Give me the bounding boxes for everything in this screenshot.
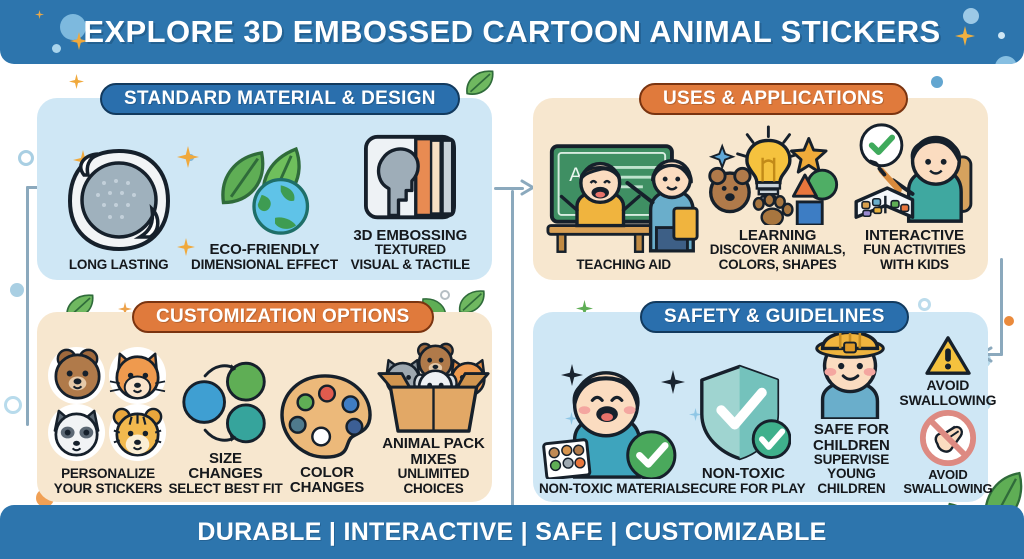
panel-items-uses: A	[533, 120, 988, 280]
footer-title: DURABLE | INTERACTIVE | SAFE | CUSTOMIZA…	[197, 518, 826, 547]
item-animal-pack: ANIMAL PACK MIXES UNLIMITED CHOICES	[376, 341, 491, 496]
item-teaching-aid: A	[543, 140, 704, 272]
panel-title-standard-material: STANDARD MATERIAL & DESIGN	[100, 83, 460, 115]
item-3d-embossing: 3D EMBOSSING TEXTURED VISUAL & TACTILE	[339, 133, 482, 272]
sparkle-icon	[69, 74, 84, 89]
item-sub-label: SECURE FOR PLAY	[681, 482, 805, 496]
leaf-icon	[462, 68, 496, 102]
decor-dot	[52, 44, 61, 53]
item-sub-label: FUN ACTIVITIES WITH KIDS	[863, 243, 965, 272]
header-banner: EXPLORE 3D EMBOSSED CARTOON ANIMAL STICK…	[0, 0, 1024, 64]
infographic-page: EXPLORE 3D EMBOSSED CARTOON ANIMAL STICK…	[0, 0, 1024, 559]
item-sub-label: DISCOVER ANIMALS, COLORS, SHAPES	[710, 243, 846, 272]
panel-items-custom: PERSONALIZE YOUR STICKERS SIZE CHANGES	[37, 334, 492, 502]
item-personalize: PERSONALIZE YOUR STICKERS	[43, 344, 173, 496]
connector-line-middle	[511, 190, 514, 520]
animal-faces-icon	[43, 344, 173, 464]
item-sub-label: LONG LASTING	[69, 258, 169, 272]
item-main-label: SIZE CHANGES	[188, 451, 262, 482]
decor-dot	[931, 76, 943, 88]
decor-dot	[10, 283, 24, 297]
panel-standard-material: LONG LASTING ECO-FRIENDLY	[37, 98, 492, 280]
panel-title-safety-guidelines: SAFETY & GUIDELINES	[640, 301, 909, 333]
panel-items-safety: NON-TOXIC MATERIAL NON-TOXIC SECURE FOR …	[533, 334, 988, 502]
happy-child-check-icon	[541, 361, 681, 479]
item-non-toxic-material: NON-TOXIC MATERIAL	[539, 361, 683, 496]
item-sub-label: TEXTURED VISUAL & TACTILE	[351, 243, 470, 272]
sparkle-icon	[955, 26, 975, 46]
item-main-label: ANIMAL PACK MIXES	[382, 436, 485, 467]
item-sub-label: DIMENSIONAL EFFECT	[191, 258, 338, 272]
sparkle-icon	[35, 10, 44, 19]
item-main-label: COLOR CHANGES	[290, 465, 364, 496]
panel-title-customization-options: CUSTOMIZATION OPTIONS	[132, 301, 434, 333]
size-circles-icon	[178, 358, 273, 448]
warning-triangle-icon	[924, 335, 972, 377]
shield-check-icon	[696, 363, 791, 463]
item-safe-for-children: SAFE FOR CHILDREN SUPERVISE YOUNG CHILDR…	[803, 319, 899, 496]
no-swallow-icon	[918, 409, 978, 467]
item-size-changes: SIZE CHANGES SELECT BEST FIT	[173, 358, 278, 496]
connector-line-right	[1000, 258, 1003, 356]
item-main-label: 3D EMBOSSING	[353, 228, 467, 244]
sticker-icon	[64, 145, 174, 255]
decor-dot	[440, 290, 450, 300]
decor-dot	[998, 32, 1005, 39]
item-sub-label: PERSONALIZE YOUR STICKERS	[54, 467, 162, 496]
item-long-lasting: LONG LASTING	[47, 145, 190, 272]
item-avoid-swallowing: AVOID SWALLOWING AVOID SWALLOWING	[899, 333, 996, 496]
child-sticker-book-icon	[852, 120, 977, 225]
hardhat-child-icon	[803, 319, 899, 419]
item-color-changes: COLOR CHANGES	[278, 372, 376, 496]
panel-customization-options: PERSONALIZE YOUR STICKERS SIZE CHANGES	[37, 312, 492, 502]
panel-uses-applications: A	[533, 98, 988, 280]
item-main-label: LEARNING	[739, 228, 817, 244]
decor-dot	[1004, 316, 1014, 326]
panel-safety-guidelines: NON-TOXIC MATERIAL NON-TOXIC SECURE FOR …	[533, 312, 988, 502]
item-learning: LEARNING DISCOVER ANIMALS, COLORS, SHAPE…	[704, 125, 851, 272]
decor-dot	[18, 150, 34, 166]
decor-dot	[4, 396, 22, 414]
item-main-label: SAFE FOR CHILDREN	[813, 422, 890, 453]
embossed-head-icon	[360, 133, 460, 225]
panel-items-standard: LONG LASTING ECO-FRIENDLY	[37, 120, 492, 280]
item-eco-friendly: ECO-FRIENDLY DIMENSIONAL EFFECT	[190, 147, 338, 272]
decor-dot	[918, 298, 931, 311]
color-palette-icon	[278, 372, 376, 462]
item-sub-label: SELECT BEST FIT	[169, 482, 283, 496]
item-main-label: NON-TOXIC	[702, 466, 785, 482]
page-title: EXPLORE 3D EMBOSSED CARTOON ANIMAL STICK…	[83, 14, 940, 50]
item-sub-label: AVOID SWALLOWING	[903, 468, 992, 496]
classroom-teacher-icon: A	[546, 140, 701, 255]
decor-dot	[963, 8, 979, 24]
animal-pack-box-icon	[376, 341, 491, 433]
lightbulb-shapes-icon	[708, 125, 848, 225]
item-main-label: INTERACTIVE	[865, 228, 964, 244]
item-main-label: ECO-FRIENDLY	[210, 242, 320, 258]
leaf-globe-icon	[212, 147, 317, 239]
item-sub-label: TEACHING AID	[576, 258, 671, 272]
item-main-label: AVOID SWALLOWING	[899, 378, 996, 407]
connector-line-left	[26, 186, 29, 426]
panel-title-uses-applications: USES & APPLICATIONS	[639, 83, 908, 115]
item-sub-label: NON-TOXIC MATERIAL	[539, 482, 683, 496]
item-interactive: INTERACTIVE FUN ACTIVITIES WITH KIDS	[851, 120, 978, 272]
item-sub-label: UNLIMITED CHOICES	[398, 467, 470, 496]
item-non-toxic: NON-TOXIC SECURE FOR PLAY	[683, 363, 803, 496]
decor-dot	[995, 56, 1017, 64]
footer-banner: DURABLE | INTERACTIVE | SAFE | CUSTOMIZA…	[0, 505, 1024, 559]
item-sub-label: SUPERVISE YOUNG CHILDREN	[803, 453, 899, 496]
